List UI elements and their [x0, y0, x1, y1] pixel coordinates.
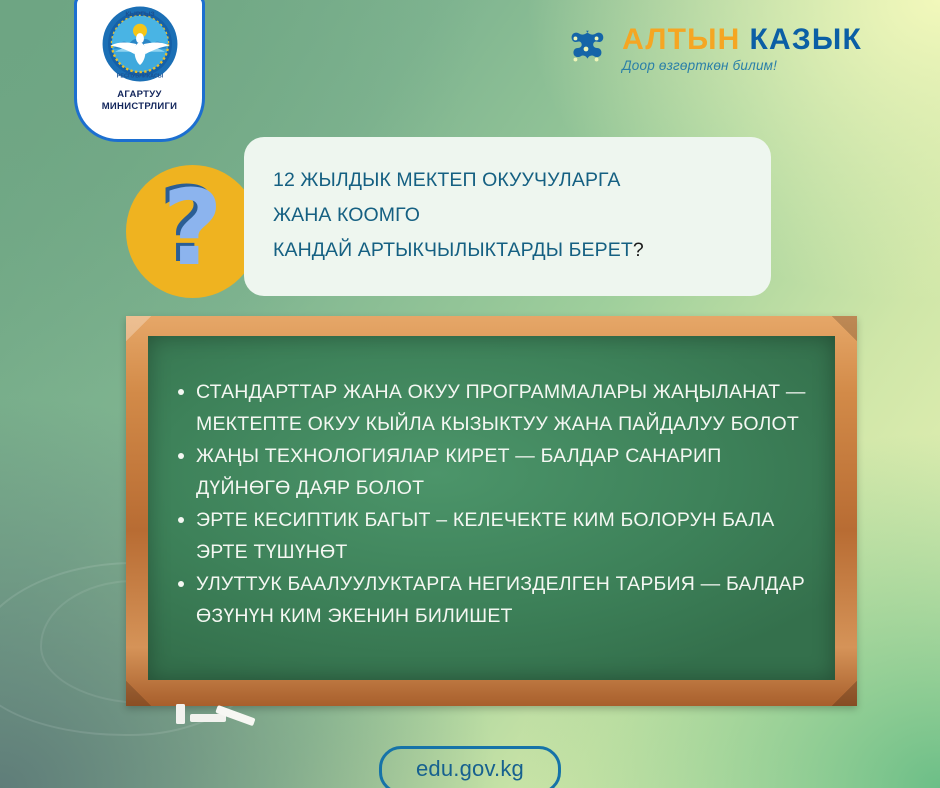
question-line-2: ЖАНА КООМГО — [273, 198, 743, 233]
list-item: ЖАҢЫ ТЕХНОЛОГИЯЛАР КИРЕТ — БАЛДАР САНАРИ… — [174, 440, 819, 504]
question-mark-badge: ? — [126, 165, 259, 298]
brand-text: АЛТЫНКАЗЫК Доор өзгөрткөн билим! — [622, 24, 862, 74]
footer-url-button[interactable]: edu.gov.kg — [379, 746, 561, 788]
brand-tagline: Доор өзгөрткөн билим! — [622, 57, 862, 74]
ministry-badge: КЫРГЫЗ РЕСПУБЛИКАСЫ АГАРТУУ МИНИСТРЛИГИ — [74, 0, 205, 142]
blackboard-frame: СТАНДАРТТАР ЖАНА ОКУУ ПРОГРАММАЛАРЫ ЖАҢЫ… — [126, 316, 857, 706]
brand-word-kazyk: КАЗЫК — [750, 23, 862, 56]
list-item: СТАНДАРТТАР ЖАНА ОКУУ ПРОГРАММАЛАРЫ ЖАҢЫ… — [174, 376, 819, 440]
question-line-3: КАНДАЙ АРТЫКЧЫЛЫКТАРДЫ БЕРЕТ? — [273, 233, 743, 268]
poster-canvas: КЫРГЫЗ РЕСПУБЛИКАСЫ АГАРТУУ МИНИСТРЛИГИ — [0, 0, 940, 788]
chalk-pieces-icon — [166, 702, 286, 728]
question-line-3-mark: ? — [633, 239, 644, 261]
benefits-list: СТАНДАРТТАР ЖАНА ОКУУ ПРОГРАММАЛАРЫ ЖАҢЫ… — [174, 376, 819, 632]
question-card: 12 ЖЫЛДЫК МЕКТЕП ОКУУЧУЛАРГА ЖАНА КООМГО… — [244, 137, 771, 296]
kyrgyz-ornament-icon — [562, 25, 610, 73]
blackboard-surface: СТАНДАРТТАР ЖАНА ОКУУ ПРОГРАММАЛАРЫ ЖАҢЫ… — [148, 336, 835, 680]
svg-text:КЫРГЫЗ: КЫРГЫЗ — [125, 11, 154, 18]
kyrgyz-republic-coat-of-arms-icon: КЫРГЫЗ РЕСПУБЛИКАСЫ — [101, 5, 179, 83]
brand-logo: АЛТЫНКАЗЫК Доор өзгөрткөн билим! — [562, 24, 862, 74]
question-line-1: 12 ЖЫЛДЫК МЕКТЕП ОКУУЧУЛАРГА — [273, 163, 743, 198]
svg-text:РЕСПУБЛИКАСЫ: РЕСПУБЛИКАСЫ — [116, 74, 162, 80]
brand-word-altyn: АЛТЫН — [622, 23, 740, 56]
ministry-label-line1: АГАРТУУ — [102, 89, 178, 101]
brand-title: АЛТЫНКАЗЫК — [622, 24, 862, 56]
ministry-badge-label: АГАРТУУ МИНИСТРЛИГИ — [102, 89, 178, 113]
question-mark-icon: ? — [162, 176, 222, 280]
list-item: УЛУТТУК БААЛУУЛУКТАРГА НЕГИЗДЕЛГЕН ТАРБИ… — [174, 568, 819, 632]
ministry-label-line2: МИНИСТРЛИГИ — [102, 101, 178, 113]
question-line-3-text: КАНДАЙ АРТЫКЧЫЛЫКТАРДЫ БЕРЕТ — [273, 239, 633, 261]
list-item: ЭРТЕ КЕСИПТИК БАГЫТ – КЕЛЕЧЕКТЕ КИМ БОЛО… — [174, 504, 819, 568]
